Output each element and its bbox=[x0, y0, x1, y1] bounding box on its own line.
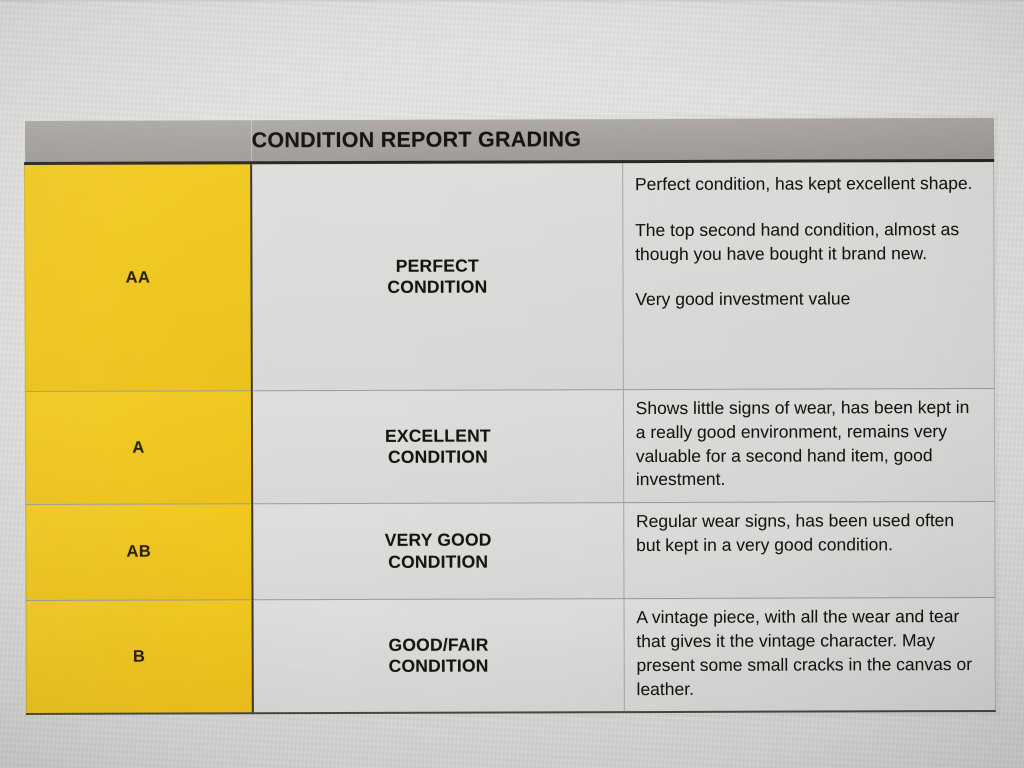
description-ab: Regular wear signs, has been used often … bbox=[623, 502, 995, 599]
condition-name-line-1: EXCELLENT bbox=[253, 425, 623, 448]
condition-name-line-2: CONDITION bbox=[254, 655, 624, 678]
description-paragraph: Perfect condition, has kept excellent sh… bbox=[635, 172, 979, 197]
description-paragraph: A vintage piece, with all the wear and t… bbox=[636, 605, 981, 701]
description-b: A vintage piece, with all the wear and t… bbox=[624, 598, 996, 713]
description-paragraph: Regular wear signs, has been used often … bbox=[636, 509, 980, 558]
table-header-row: CONDITION REPORT GRADING bbox=[24, 118, 993, 164]
description-paragraph: The top second hand condition, almost as… bbox=[635, 218, 979, 267]
condition-name-line-1: GOOD/FAIR bbox=[254, 634, 624, 657]
grade-code-aa: AA bbox=[25, 163, 252, 392]
paper-top-edge bbox=[0, 0, 1024, 3]
condition-report-grading-sheet: CONDITION REPORT GRADING AA PERFECT COND… bbox=[24, 118, 996, 715]
condition-name-line-2: CONDITION bbox=[253, 551, 623, 574]
condition-name-ab: VERY GOOD CONDITION bbox=[252, 503, 624, 600]
description-a: Shows little signs of wear, has been kep… bbox=[623, 388, 995, 502]
description-paragraph: Very good investment value bbox=[635, 287, 979, 312]
table-title: CONDITION REPORT GRADING bbox=[251, 118, 994, 163]
table-row: B GOOD/FAIR CONDITION A vintage piece, w… bbox=[26, 598, 995, 715]
condition-name-aa: PERFECT CONDITION bbox=[251, 162, 623, 391]
condition-name-line-2: CONDITION bbox=[252, 276, 622, 299]
condition-name-b: GOOD/FAIR CONDITION bbox=[253, 599, 625, 714]
condition-name-line-1: VERY GOOD bbox=[253, 529, 623, 552]
description-aa: Perfect condition, has kept excellent sh… bbox=[622, 160, 994, 389]
condition-name-a: EXCELLENT CONDITION bbox=[252, 390, 624, 504]
grade-code-b: B bbox=[26, 600, 253, 714]
table-row: A EXCELLENT CONDITION Shows little signs… bbox=[25, 388, 994, 504]
condition-name-line-1: PERFECT bbox=[252, 255, 622, 278]
table-row: AB VERY GOOD CONDITION Regular wear sign… bbox=[26, 502, 995, 601]
description-paragraph: Shows little signs of wear, has been kep… bbox=[636, 396, 981, 492]
grade-code-a: A bbox=[25, 391, 252, 505]
header-spacer-cell bbox=[24, 120, 251, 163]
grading-table: CONDITION REPORT GRADING AA PERFECT COND… bbox=[24, 118, 996, 715]
grade-code-ab: AB bbox=[26, 504, 253, 601]
condition-name-line-2: CONDITION bbox=[253, 446, 623, 469]
table-row: AA PERFECT CONDITION Perfect condition, … bbox=[25, 160, 995, 391]
